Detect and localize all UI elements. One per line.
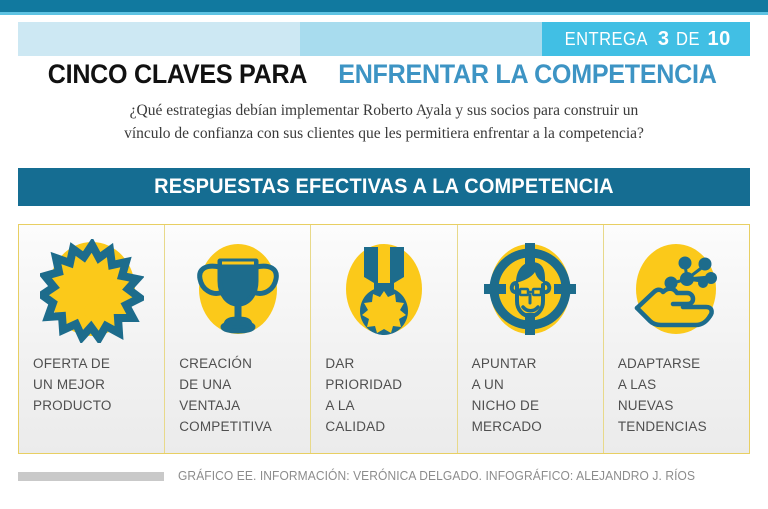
card-label-line: NUEVAS: [618, 395, 749, 416]
page-title-part-blue: ENFRENTAR LA COMPETENCIA: [338, 59, 716, 90]
card-label: OFERTA DE UN MEJOR PRODUCTO: [19, 353, 164, 416]
card-label-line: A LAS: [618, 374, 749, 395]
card-label-line: A LA: [325, 395, 456, 416]
cards-panel: OFERTA DE UN MEJOR PRODUCTO: [18, 224, 750, 454]
card-label-line: NICHO DE: [472, 395, 603, 416]
card-label: APUNTAR A UN NICHO DE MERCADO: [458, 353, 603, 437]
header-strip-segment-mid: [300, 22, 542, 56]
footer-rule: [18, 472, 164, 481]
card-label-line: PRIORIDAD: [325, 374, 456, 395]
card-label-line: DAR: [325, 353, 456, 374]
section-banner-text: RESPUESTAS EFECTIVAS A LA COMPETENCIA: [154, 175, 614, 199]
card-label-line: ADAPTARSE: [618, 353, 749, 374]
card-label: ADAPTARSE A LAS NUEVAS TENDENCIAS: [604, 353, 749, 437]
card-label-line: CREACIÓN: [179, 353, 310, 374]
starburst-exclamation-icon: [39, 237, 145, 345]
top-accent-rule: [0, 12, 768, 15]
entrega-label: ENTREGA: [565, 29, 648, 50]
card-prioridad-calidad: DAR PRIORIDAD A LA CALIDAD: [310, 225, 456, 453]
card-nuevas-tendencias: ADAPTARSE A LAS NUEVAS TENDENCIAS: [603, 225, 749, 453]
page-title: CINCO CLAVES PARA ENFRENTAR LA COMPETENC…: [0, 59, 768, 90]
deck-line-2: vínculo de confianza con sus clientes qu…: [40, 122, 728, 145]
card-label-line: MERCADO: [472, 416, 603, 437]
footer: GRÁFICO EE. INFORMACIÓN: VERÓNICA DELGAD…: [18, 466, 750, 486]
card-label-line: APUNTAR: [472, 353, 603, 374]
footer-credit-text: GRÁFICO EE. INFORMACIÓN: VERÓNICA DELGAD…: [178, 469, 695, 483]
header-strip-segment-light: [18, 22, 300, 56]
card-ventaja-competitiva: CREACIÓN DE UNA VENTAJA COMPETITIVA: [164, 225, 310, 453]
entrega-current-number: 3: [658, 28, 670, 51]
medal-icon: [331, 237, 437, 345]
card-label-line: PRODUCTO: [33, 395, 164, 416]
card-label-line: TENDENCIAS: [618, 416, 749, 437]
top-dark-rule: [0, 0, 768, 12]
card-oferta-producto: OFERTA DE UN MEJOR PRODUCTO: [19, 225, 164, 453]
card-label-line: OFERTA DE: [33, 353, 164, 374]
card-label-line: UN MEJOR: [33, 374, 164, 395]
card-label-line: CALIDAD: [325, 416, 456, 437]
header-strip: ENTREGA 3 DE 10: [18, 22, 750, 56]
hand-network-icon: [623, 237, 729, 345]
trophy-icon: [185, 237, 291, 345]
card-label: CREACIÓN DE UNA VENTAJA COMPETITIVA: [165, 353, 310, 437]
deck-line-1: ¿Qué estrategias debían implementar Robe…: [40, 99, 728, 122]
page-title-part-dark: CINCO CLAVES PARA: [47, 59, 306, 90]
card-nicho-mercado: APUNTAR A UN NICHO DE MERCADO: [457, 225, 603, 453]
card-label: DAR PRIORIDAD A LA CALIDAD: [311, 353, 456, 437]
target-face-icon: [477, 237, 583, 345]
card-label-line: A UN: [472, 374, 603, 395]
card-label-line: COMPETITIVA: [179, 416, 310, 437]
card-label-line: VENTAJA: [179, 395, 310, 416]
entrega-badge: ENTREGA 3 DE 10: [542, 22, 750, 56]
entrega-de-label: DE: [676, 29, 700, 50]
infographic-page: ENTREGA 3 DE 10 CINCO CLAVES PARA ENFREN…: [0, 0, 768, 509]
card-label-line: DE UNA: [179, 374, 310, 395]
deck-paragraph: ¿Qué estrategias debían implementar Robe…: [40, 99, 728, 145]
section-banner: RESPUESTAS EFECTIVAS A LA COMPETENCIA: [18, 168, 750, 206]
entrega-total-number: 10: [707, 28, 730, 51]
